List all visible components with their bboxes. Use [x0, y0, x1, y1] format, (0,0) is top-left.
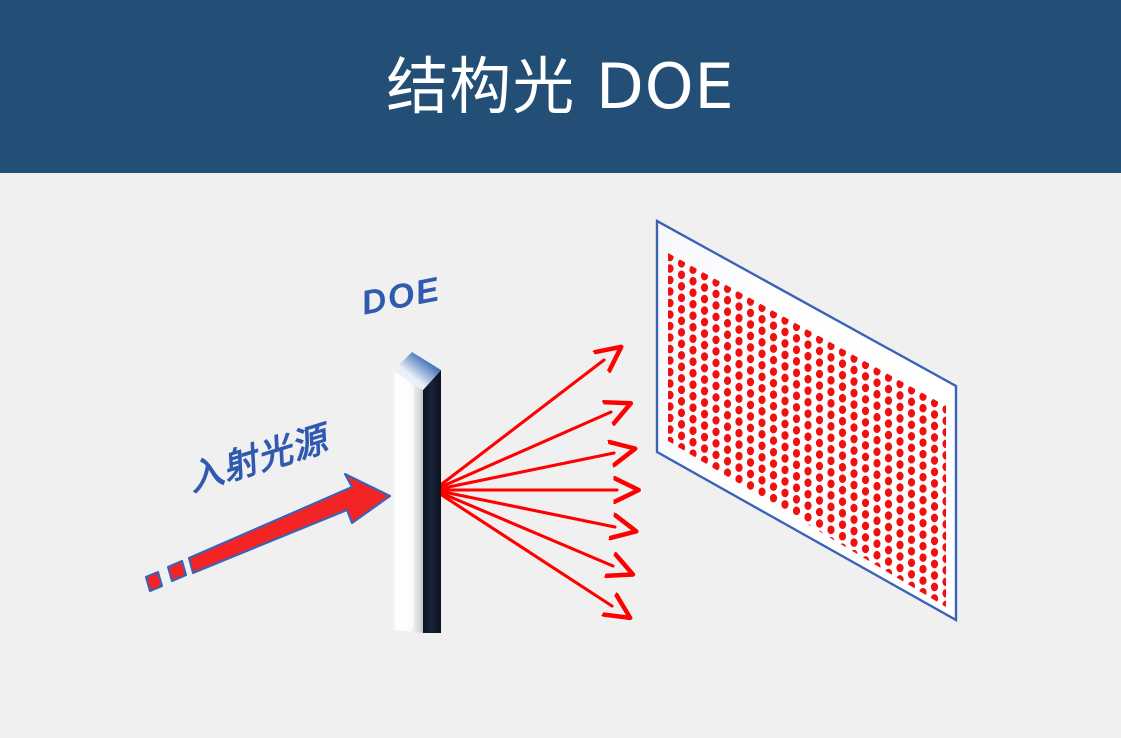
light-dot	[942, 670, 949, 679]
light-dot	[850, 400, 857, 409]
light-dot	[816, 496, 823, 505]
light-dot	[816, 554, 823, 563]
light-dot	[931, 433, 938, 442]
light-dot	[701, 410, 708, 419]
light-dot	[931, 560, 938, 569]
light-dot	[712, 393, 719, 402]
light-dot	[862, 648, 869, 657]
light-dot	[770, 344, 777, 353]
projection-screen	[657, 221, 961, 707]
light-dot	[919, 657, 926, 666]
light-dot	[678, 489, 685, 498]
light-dot	[885, 465, 892, 474]
light-dot	[827, 514, 834, 523]
light-dot	[701, 398, 708, 407]
light-dot	[689, 484, 696, 493]
light-dot	[701, 318, 708, 327]
light-dot	[678, 351, 685, 360]
light-dot	[804, 340, 811, 349]
light-dot	[827, 560, 834, 569]
light-dot	[885, 523, 892, 532]
light-dot	[678, 317, 685, 326]
light-dot	[747, 412, 754, 421]
light-dot	[931, 675, 938, 684]
light-dot	[689, 277, 696, 286]
light-dot	[701, 444, 708, 453]
light-dot	[701, 387, 708, 396]
light-dot	[816, 577, 823, 586]
doe-plate	[393, 352, 441, 633]
light-dot	[954, 699, 961, 708]
light-dot	[873, 493, 880, 502]
light-dot	[770, 574, 777, 583]
light-dot	[712, 405, 719, 414]
light-dot	[758, 384, 765, 393]
diffracted-beam-fan	[434, 360, 617, 606]
light-dot	[896, 483, 903, 492]
light-dot	[804, 570, 811, 579]
light-dot	[724, 572, 731, 581]
light-dot	[873, 585, 880, 594]
light-dot	[862, 625, 869, 634]
light-dot	[724, 353, 731, 362]
light-dot	[873, 459, 880, 468]
light-dot	[689, 346, 696, 355]
light-dot	[919, 565, 926, 574]
light-dot	[931, 422, 938, 431]
light-dot	[793, 576, 800, 585]
light-dot	[770, 586, 777, 595]
light-dot	[942, 624, 949, 633]
light-dot	[724, 376, 731, 385]
light-dot	[931, 548, 938, 557]
light-dot	[954, 687, 961, 696]
light-dot	[781, 604, 788, 613]
light-dot	[942, 681, 949, 690]
light-dot	[873, 470, 880, 479]
light-dot	[781, 362, 788, 371]
light-dot	[908, 639, 915, 648]
light-dot	[701, 433, 708, 442]
light-dot	[701, 375, 708, 384]
light-dot	[666, 494, 673, 503]
light-dot	[919, 542, 926, 551]
light-dot	[758, 338, 765, 347]
light-dot	[850, 469, 857, 478]
light-dot	[770, 482, 777, 491]
light-dot	[839, 382, 846, 391]
light-dot	[919, 645, 926, 654]
light-dot	[804, 398, 811, 407]
light-dot	[816, 439, 823, 448]
light-dot	[758, 487, 765, 496]
light-dot	[850, 619, 857, 628]
light-dot	[862, 637, 869, 646]
light-dot	[862, 453, 869, 462]
light-dot	[931, 502, 938, 511]
light-dot	[816, 485, 823, 494]
light-dot	[908, 524, 915, 533]
light-dot	[712, 439, 719, 448]
light-dot	[908, 673, 915, 682]
light-dot	[747, 470, 754, 479]
light-dot	[827, 411, 834, 420]
light-dot	[908, 478, 915, 487]
light-dot	[896, 495, 903, 504]
light-dot	[804, 501, 811, 510]
light-dot	[735, 452, 742, 461]
light-dot	[896, 437, 903, 446]
light-dot	[816, 358, 823, 367]
light-dot	[678, 535, 685, 544]
light-dot	[747, 447, 754, 456]
light-dot	[724, 388, 731, 397]
light-dot	[747, 435, 754, 444]
beam-ray-6	[434, 490, 613, 566]
light-dot	[758, 349, 765, 358]
light-dot	[758, 545, 765, 554]
light-dot	[862, 487, 869, 496]
light-dot	[827, 388, 834, 397]
light-dot	[770, 528, 777, 537]
light-dot	[827, 434, 834, 443]
light-dot	[862, 579, 869, 588]
light-dot	[873, 551, 880, 560]
light-dot	[896, 529, 903, 538]
light-dot	[931, 468, 938, 477]
light-dot	[781, 592, 788, 601]
light-dot	[701, 525, 708, 534]
light-dot	[827, 629, 834, 638]
light-dot	[747, 539, 754, 548]
light-dot	[816, 565, 823, 574]
light-dot	[793, 472, 800, 481]
light-dot	[793, 610, 800, 619]
light-dot	[689, 541, 696, 550]
light-dot	[908, 662, 915, 671]
light-dot	[724, 537, 731, 546]
light-dot	[770, 471, 777, 480]
light-dot	[896, 598, 903, 607]
light-dot	[908, 466, 915, 475]
light-dot	[942, 647, 949, 656]
light-dot	[758, 568, 765, 577]
light-dot	[701, 421, 708, 430]
light-dot	[712, 554, 719, 563]
light-dot	[747, 355, 754, 364]
light-dot	[919, 622, 926, 631]
light-dot	[678, 547, 685, 556]
light-dot	[770, 540, 777, 549]
light-dot	[862, 545, 869, 554]
light-dot	[896, 541, 903, 550]
light-dot	[896, 552, 903, 561]
light-dot	[839, 428, 846, 437]
light-dot	[712, 566, 719, 575]
light-dot	[793, 541, 800, 550]
light-dot	[747, 562, 754, 571]
light-dot	[724, 330, 731, 339]
light-dot	[839, 612, 846, 621]
light-dot	[712, 508, 719, 517]
light-dot	[747, 481, 754, 490]
light-dot	[793, 564, 800, 573]
light-dot	[689, 518, 696, 527]
light-dot	[724, 342, 731, 351]
light-dot	[770, 551, 777, 560]
light-dot	[839, 451, 846, 460]
light-dot	[896, 621, 903, 630]
light-dot	[758, 430, 765, 439]
light-dot	[735, 302, 742, 311]
light-dot	[896, 391, 903, 400]
light-dot	[954, 664, 961, 673]
light-dot	[804, 478, 811, 487]
light-dot	[896, 403, 903, 412]
light-dot	[747, 458, 754, 467]
light-dot	[689, 553, 696, 562]
light-dot	[885, 488, 892, 497]
light-dot	[758, 361, 765, 370]
light-dot	[747, 527, 754, 536]
light-dot	[735, 360, 742, 369]
light-dot	[747, 343, 754, 352]
light-dot	[931, 686, 938, 695]
light-dot	[839, 624, 846, 633]
light-dot	[816, 404, 823, 413]
light-dot	[839, 509, 846, 518]
light-dot	[701, 548, 708, 557]
light-dot	[885, 500, 892, 509]
light-dot	[931, 479, 938, 488]
incident-light-arrow	[146, 474, 390, 591]
light-dot	[712, 301, 719, 310]
light-dot	[712, 359, 719, 368]
light-dot	[942, 693, 949, 702]
light-dot	[758, 464, 765, 473]
light-dot	[873, 505, 880, 514]
light-dot	[816, 623, 823, 632]
light-dot	[827, 572, 834, 581]
light-dot	[827, 468, 834, 477]
light-dot	[678, 478, 685, 487]
light-dot	[689, 311, 696, 320]
light-dot	[862, 407, 869, 416]
light-dot	[931, 525, 938, 534]
light-dot	[781, 558, 788, 567]
light-dot	[781, 477, 788, 486]
light-dot	[712, 347, 719, 356]
light-dot	[770, 436, 777, 445]
light-dot	[816, 588, 823, 597]
light-dot	[724, 365, 731, 374]
light-dot	[896, 518, 903, 527]
light-dot	[919, 507, 926, 516]
light-dot	[931, 629, 938, 638]
light-dot	[931, 456, 938, 465]
light-dot	[885, 431, 892, 440]
light-dot	[689, 403, 696, 412]
light-dot	[793, 495, 800, 504]
light-dot	[931, 537, 938, 546]
light-dot	[850, 584, 857, 593]
light-dot	[885, 638, 892, 647]
light-dot	[816, 381, 823, 390]
light-dot	[908, 650, 915, 659]
light-dot	[862, 591, 869, 600]
light-dot	[735, 325, 742, 334]
light-dot	[873, 620, 880, 629]
light-dot	[701, 536, 708, 545]
light-dot	[931, 445, 938, 454]
light-dot	[689, 380, 696, 389]
light-dot	[908, 616, 915, 625]
light-dot	[804, 547, 811, 556]
light-dot	[919, 576, 926, 585]
light-dot	[678, 282, 685, 291]
light-dot	[735, 521, 742, 530]
light-dot	[735, 337, 742, 346]
light-dot	[781, 374, 788, 383]
light-dot	[931, 640, 938, 649]
light-dot	[689, 415, 696, 424]
light-dot	[816, 462, 823, 471]
light-dot	[919, 473, 926, 482]
light-dot	[908, 432, 915, 441]
light-dot	[873, 608, 880, 617]
light-dot	[724, 457, 731, 466]
light-dot	[862, 510, 869, 519]
light-dot	[850, 412, 857, 421]
light-dot	[931, 617, 938, 626]
light-dot	[804, 409, 811, 418]
light-dot	[758, 407, 765, 416]
light-dot	[689, 357, 696, 366]
light-dot	[758, 453, 765, 462]
light-dot	[862, 372, 869, 381]
light-dot	[678, 512, 685, 521]
light-dot	[931, 410, 938, 419]
light-dot	[724, 503, 731, 512]
light-dot	[885, 477, 892, 486]
light-dot	[931, 583, 938, 592]
light-dot	[678, 432, 685, 441]
light-dot	[804, 616, 811, 625]
light-dot	[724, 399, 731, 408]
light-dot	[689, 507, 696, 516]
light-dot	[908, 443, 915, 452]
light-dot	[747, 320, 754, 329]
light-dot	[689, 300, 696, 309]
light-dot	[735, 383, 742, 392]
light-dot	[827, 606, 834, 615]
light-dot	[804, 363, 811, 372]
light-dot	[735, 578, 742, 587]
light-dot	[816, 508, 823, 517]
light-dot	[793, 599, 800, 608]
light-dot	[770, 379, 777, 388]
light-dot	[873, 597, 880, 606]
light-dot	[954, 630, 961, 639]
light-dot	[827, 376, 834, 385]
light-dot	[689, 495, 696, 504]
light-dot	[758, 395, 765, 404]
light-dot	[804, 605, 811, 614]
light-dot	[781, 408, 788, 417]
light-dot	[781, 443, 788, 452]
light-dot	[735, 544, 742, 553]
light-dot	[931, 491, 938, 500]
light-dot	[896, 460, 903, 469]
light-dot	[747, 424, 754, 433]
light-dot	[816, 416, 823, 425]
light-dot	[793, 357, 800, 366]
light-dot	[804, 467, 811, 476]
light-dot	[770, 413, 777, 422]
light-dot	[850, 573, 857, 582]
light-dot	[701, 283, 708, 292]
light-dot	[885, 511, 892, 520]
light-dot	[678, 409, 685, 418]
light-dot	[873, 516, 880, 525]
light-dot	[931, 663, 938, 672]
light-dot	[781, 535, 788, 544]
light-dot	[919, 427, 926, 436]
light-dot	[804, 513, 811, 522]
light-dot	[781, 489, 788, 498]
light-dot	[758, 418, 765, 427]
light-dot	[919, 634, 926, 643]
light-dot	[873, 401, 880, 410]
light-dot	[678, 294, 685, 303]
doe-plate-front-highlight	[395, 374, 414, 628]
light-dot	[770, 333, 777, 342]
light-dot	[770, 563, 777, 572]
incident-arrow-trail-segment-1	[168, 561, 186, 581]
light-dot	[862, 418, 869, 427]
light-dot	[701, 502, 708, 511]
light-dot	[712, 531, 719, 540]
light-dot	[712, 543, 719, 552]
light-dot	[919, 404, 926, 413]
light-dot	[678, 271, 685, 280]
light-dot	[919, 519, 926, 528]
light-dot	[758, 326, 765, 335]
light-dot	[839, 417, 846, 426]
light-dot	[770, 390, 777, 399]
light-dot	[724, 445, 731, 454]
light-dot	[885, 442, 892, 451]
light-dot	[747, 550, 754, 559]
light-dot	[678, 340, 685, 349]
light-dot	[827, 399, 834, 408]
light-dot	[931, 514, 938, 523]
light-dot	[781, 569, 788, 578]
light-dot	[758, 556, 765, 565]
light-dot	[804, 444, 811, 453]
light-dot	[804, 421, 811, 430]
light-dot	[770, 321, 777, 330]
light-dot	[919, 438, 926, 447]
light-dot	[873, 654, 880, 663]
light-dot	[735, 567, 742, 576]
light-dot	[701, 352, 708, 361]
light-dot	[885, 385, 892, 394]
light-dot	[896, 644, 903, 653]
light-dot	[712, 428, 719, 437]
light-dot	[712, 497, 719, 506]
light-dot	[747, 366, 754, 375]
